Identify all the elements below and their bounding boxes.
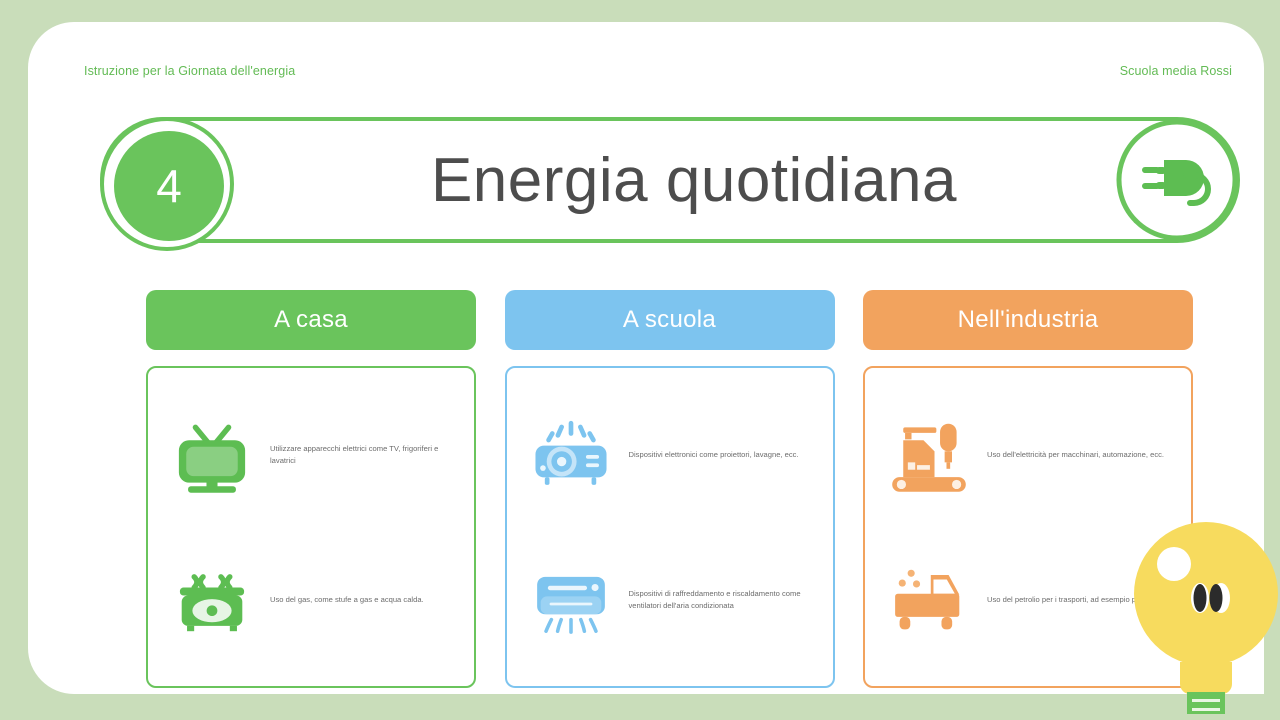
list-item: Dispositivi elettronici come proiettori,… (507, 382, 833, 527)
lesson-label: Istruzione per la Giornata dell'energia (84, 64, 295, 78)
factory-robot-arm-icon (879, 409, 979, 501)
step-badge: 4 (114, 131, 224, 241)
column-body-school: Dispositivi elettronici come proiettori,… (505, 366, 835, 688)
column-school: A scuola (505, 290, 835, 688)
list-item: Uso del gas, come stufe a gas e acqua ca… (148, 527, 474, 672)
air-conditioner-icon (521, 554, 621, 646)
column-header-school[interactable]: A scuola (505, 290, 835, 350)
step-number: 4 (156, 163, 182, 209)
page-title: Energia quotidiana (274, 121, 1114, 239)
light-bulb-mascot-icon (1128, 512, 1280, 720)
column-home: A casa Utilizzare apparecchi elettr (146, 290, 476, 688)
slide-card: Istruzione per la Giornata dell'energia … (28, 22, 1264, 694)
list-item-text: Utilizzare apparecchi elettrici come TV,… (262, 443, 460, 467)
delivery-truck-icon (879, 554, 979, 646)
slide-meta-row: Istruzione per la Giornata dell'energia … (84, 56, 1232, 86)
column-body-home: Utilizzare apparecchi elettrici come TV,… (146, 366, 476, 688)
television-icon (162, 409, 262, 501)
step-badge-ring: 4 (100, 117, 234, 251)
column-header-home[interactable]: A casa (146, 290, 476, 350)
school-label: Scuola media Rossi (1120, 64, 1232, 78)
list-item-text: Uso del gas, come stufe a gas e acqua ca… (262, 594, 424, 606)
list-item: Uso dell'elettricità per macchinari, aut… (865, 382, 1191, 527)
projector-icon (521, 409, 621, 501)
list-item-text: Dispositivi elettronici come proiettori,… (621, 449, 799, 461)
gas-stove-icon (162, 554, 262, 646)
list-item: Dispositivi di raffreddamento e riscalda… (507, 527, 833, 672)
power-plug-icon (1112, 115, 1242, 245)
list-item-text: Dispositivi di raffreddamento e riscalda… (621, 588, 819, 612)
category-columns: A casa Utilizzare apparecchi elettr (146, 290, 1193, 688)
list-item: Utilizzare apparecchi elettrici come TV,… (148, 382, 474, 527)
column-header-industry[interactable]: Nell'industria (863, 290, 1193, 350)
slide-title-bar: 4 Energia quotidiana (100, 117, 1240, 243)
list-item-text: Uso dell'elettricità per macchinari, aut… (979, 449, 1164, 461)
